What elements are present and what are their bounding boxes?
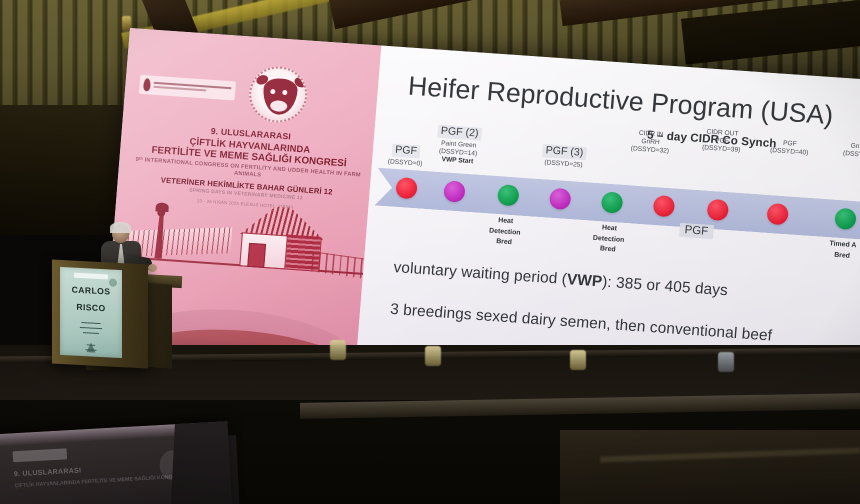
stage-light-icon bbox=[570, 350, 586, 370]
timeline-below-4: Heat Detection Bred bbox=[571, 221, 645, 258]
stage-light-icon bbox=[718, 352, 734, 372]
floor-standee: 9. ULUSLARARASI ÇİFTLİK HAYVANLARINDA FE… bbox=[0, 421, 232, 504]
timeline-label-6: CIDR OUT PGF (DSSYD=39) bbox=[684, 127, 760, 156]
university-logo bbox=[139, 75, 236, 101]
standee-logo bbox=[13, 448, 68, 462]
hall-floor bbox=[560, 430, 860, 504]
timeline-label-5: CIDR IN GnRH (DSSYD=32) bbox=[614, 128, 688, 157]
speaker-podium: CARLOS RISCO ▬▬▬▬▬▬▬▬▬▬▬▬▬▬▬▬▬▬ ▬▬▬▬▬▬▬ bbox=[52, 259, 148, 368]
speaker-last-name: RISCO bbox=[60, 301, 122, 314]
sign-blurb: ▬▬▬▬▬▬▬▬▬▬▬▬▬▬▬▬▬▬ bbox=[60, 319, 122, 338]
university-mark-icon bbox=[143, 78, 151, 91]
stage-light-icon bbox=[425, 346, 441, 366]
stage-light-icon bbox=[330, 340, 346, 360]
conference-hall-photo: 9. ULUSLARARASI ÇİFTLİK HAYVANLARINDA FE… bbox=[0, 0, 860, 504]
standee-shadow bbox=[169, 421, 232, 504]
timeline-label-7: PGF (DSSYD=40) bbox=[752, 138, 827, 159]
sign-seal-icon bbox=[109, 278, 117, 286]
cow-head-emblem-icon bbox=[247, 65, 309, 125]
timeline-label-8: GnRH (DSSYD=4 bbox=[822, 141, 860, 162]
fence bbox=[311, 251, 364, 278]
slide-body-line-2: 3 breedings sexed dairy semen, then conv… bbox=[390, 301, 773, 346]
timeline-label-3: PGF (3) (DSSYD=25) bbox=[526, 138, 602, 171]
sign-logo bbox=[74, 273, 108, 280]
university-wordmark bbox=[153, 82, 231, 95]
timeline-label-1: PGF (2) Paint Green (DSSYD=14) VWP Start bbox=[420, 119, 497, 168]
timeline-pgf-chip: PGF bbox=[679, 223, 714, 239]
timeline-below-2: Heat Detection Bred bbox=[468, 214, 542, 251]
standee-line-1: 9. ULUSLARARASI bbox=[14, 467, 82, 478]
slide-body-line-1: voluntary waiting period (VWP): 385 or 4… bbox=[393, 259, 729, 300]
timeline-below-8: Timed A Bred bbox=[804, 238, 860, 265]
protocol-timeline: PGF (DSSYD=0) PGF (2) Paint Green (DSSYD… bbox=[375, 168, 860, 242]
speaker-name-sign: CARLOS RISCO ▬▬▬▬▬▬▬▬▬▬▬▬▬▬▬▬▬▬ ▬▬▬▬▬▬▬ bbox=[60, 267, 122, 358]
